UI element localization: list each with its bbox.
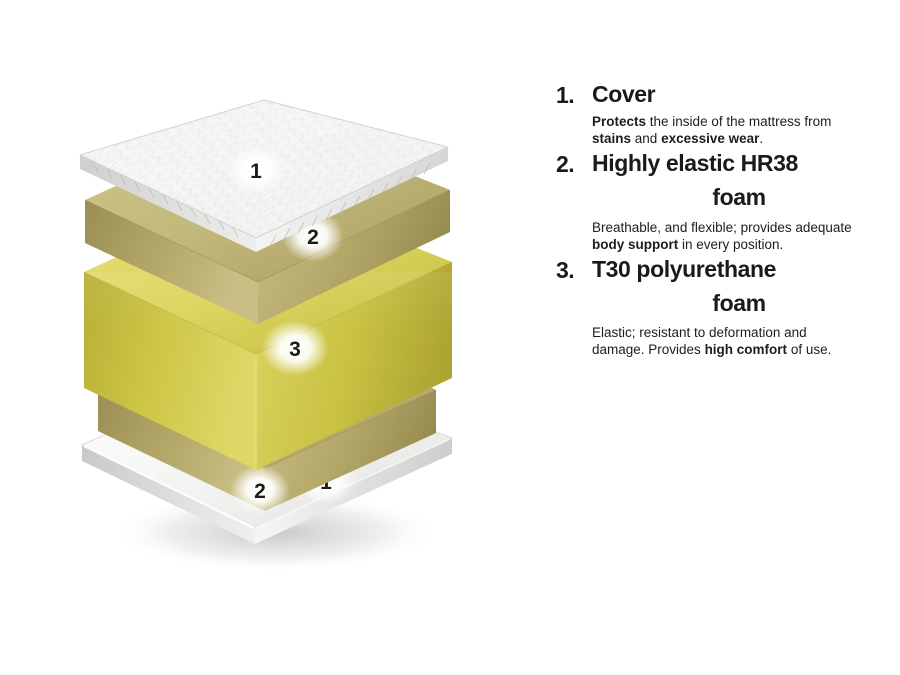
legend-item-number: 1.	[556, 82, 592, 108]
legend-item-description: Breathable, and flexible; provides adequ…	[592, 219, 877, 253]
layer-callout-label: 3	[289, 338, 301, 361]
legend-item-title-line2: foam	[592, 185, 886, 211]
layer-callout-label: 2	[254, 480, 266, 503]
legend-item-title: T30 polyurethane	[592, 257, 886, 283]
infographic-root: 1 2	[0, 0, 900, 675]
legend-item-number: 3.	[556, 257, 592, 284]
mattress-layer-diagram: 1 2	[60, 100, 500, 580]
legend-item-cover: 1. Cover Protects the inside of the matt…	[556, 82, 886, 147]
legend-item-title: Highly elastic HR38	[592, 151, 886, 177]
layer-callout-2-bottom: 2	[230, 465, 290, 515]
legend-panel: 1. Cover Protects the inside of the matt…	[556, 82, 886, 359]
legend-item-title: Cover	[592, 82, 886, 108]
legend-item-description: Protects the inside of the mattress from…	[592, 113, 838, 147]
layer-callout-label: 1	[250, 160, 262, 183]
legend-item-hr38-foam: 2. Highly elastic HR38 foam Breathable, …	[556, 151, 886, 253]
legend-item-number: 2.	[556, 151, 592, 178]
layer-callout-1-top: 1	[226, 146, 286, 194]
legend-item-t30-foam: 3. T30 polyurethane foam Elastic; resist…	[556, 257, 886, 359]
legend-item-title-line2: foam	[592, 291, 886, 317]
legend-item-description: Elastic; resistant to deformation and da…	[592, 324, 832, 358]
layer-callout-3: 3	[261, 320, 329, 376]
layer-callout-label: 2	[307, 226, 319, 249]
